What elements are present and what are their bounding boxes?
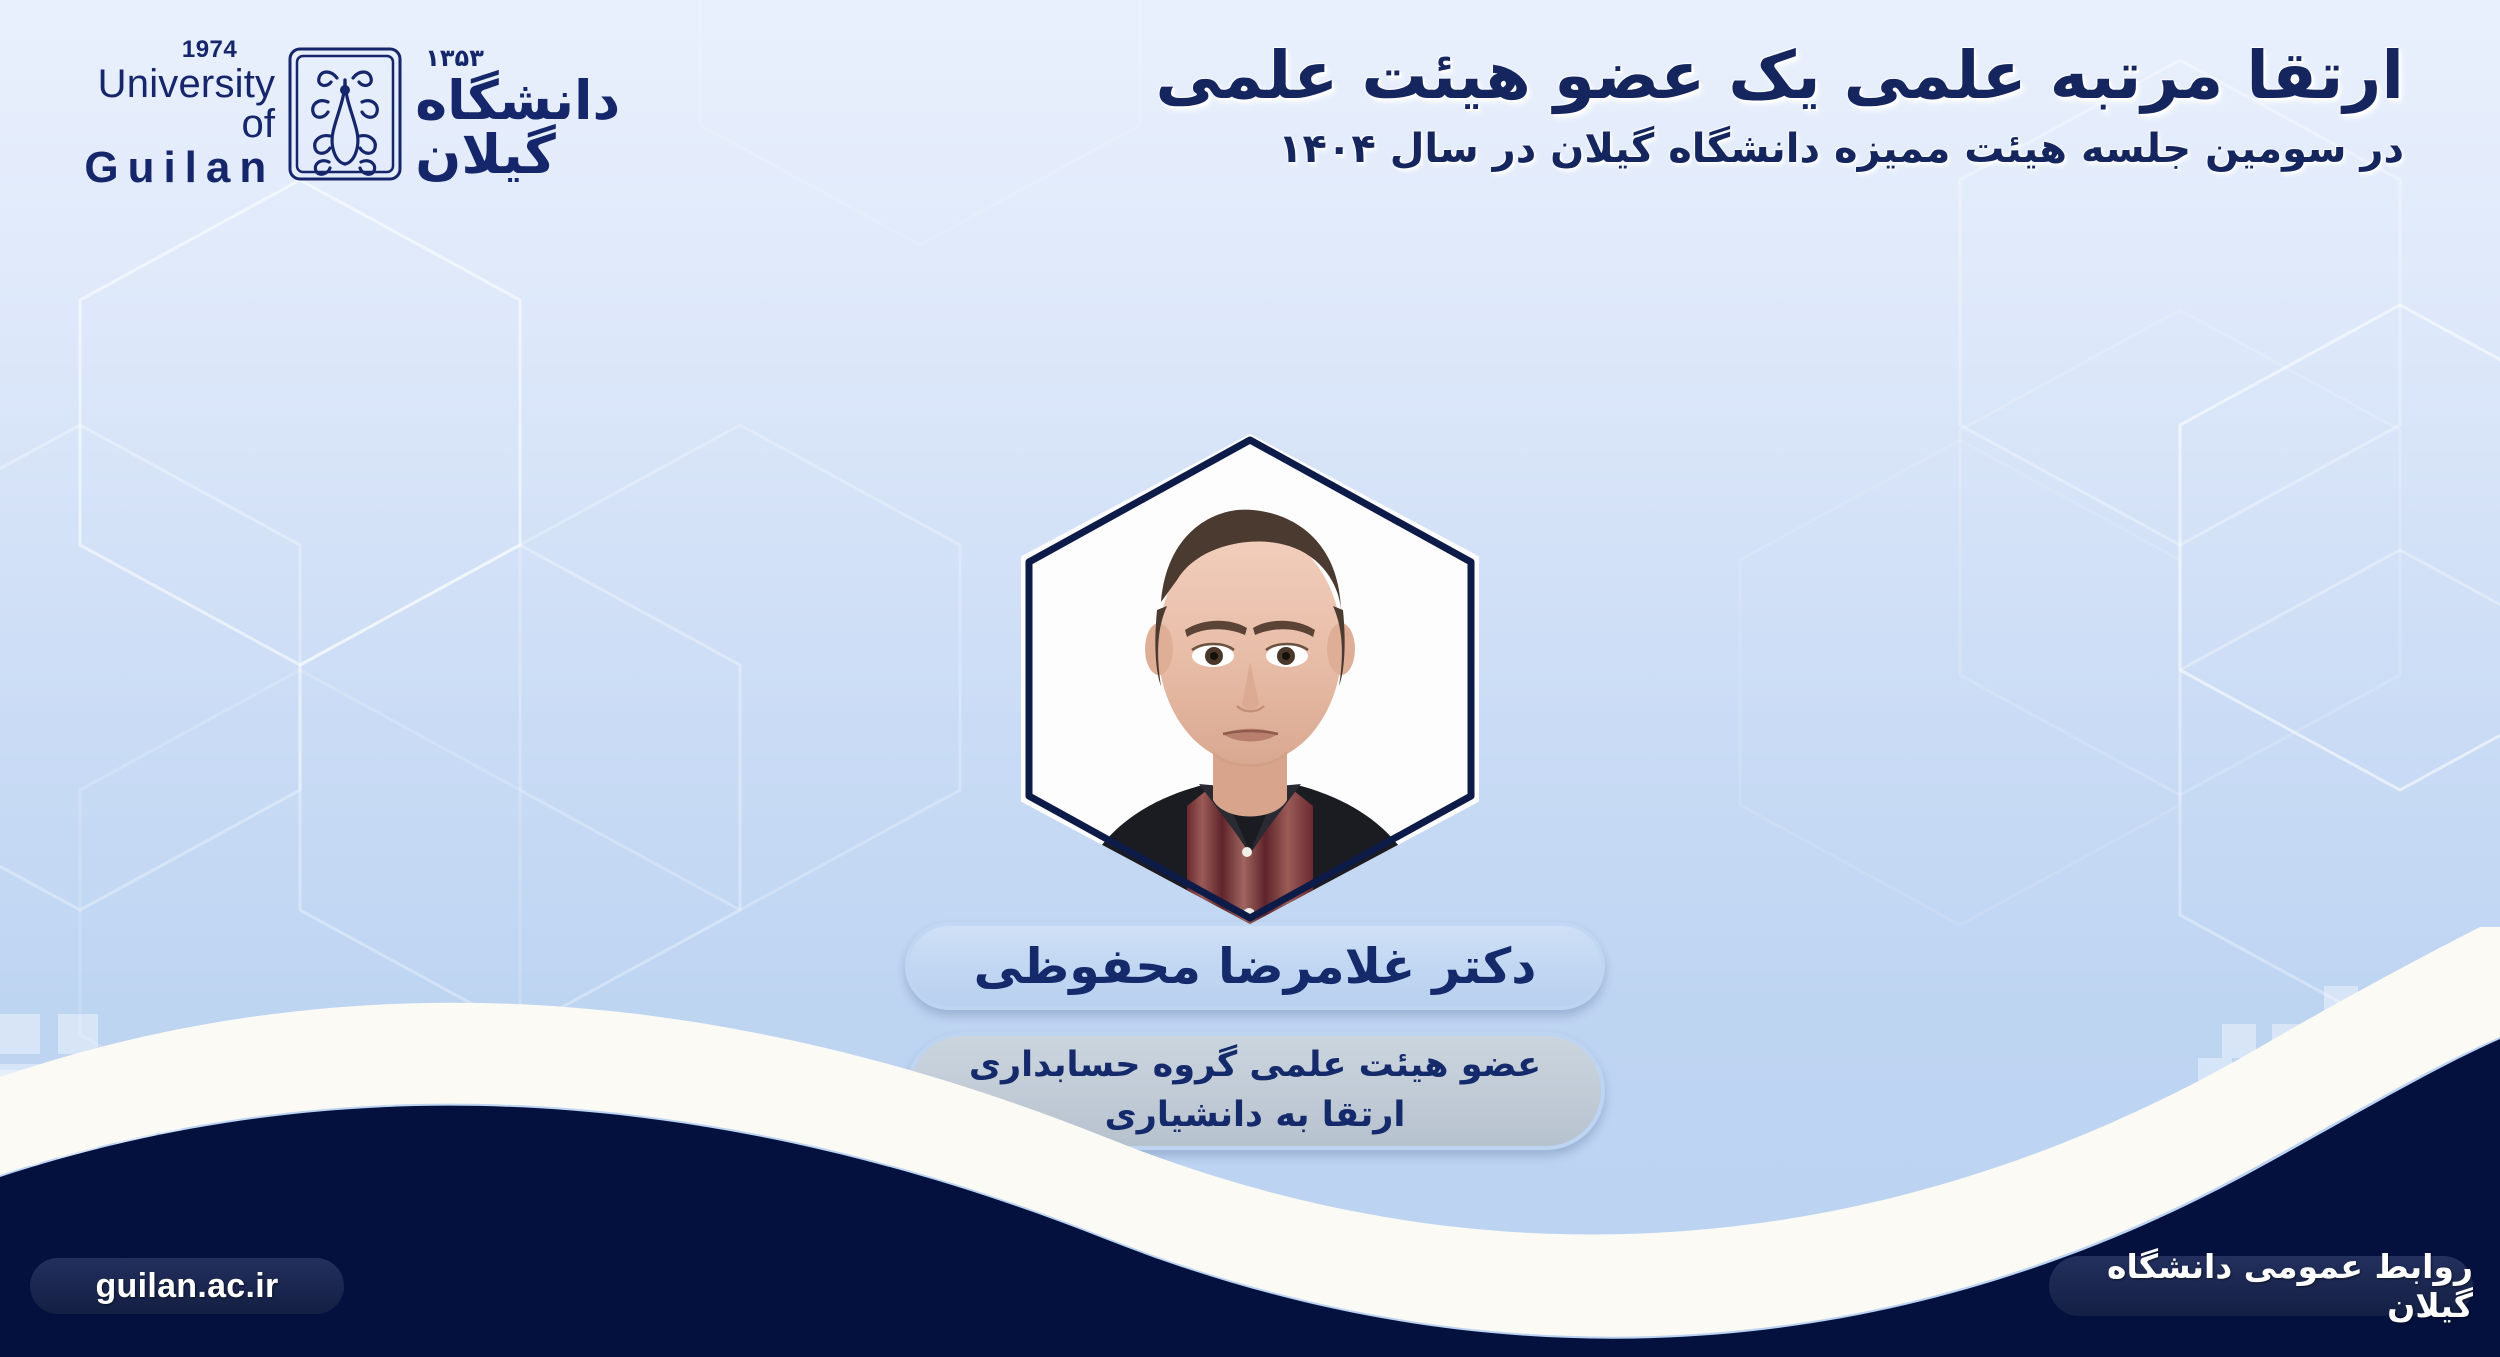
logo-persian-block: ۱۳۵۳ دانشگاه گیلان [411,46,738,182]
poster-title: ارتقا مرتبه علمی یک عضو هیئت علمی [1054,36,2404,117]
hexagon-frame-outline [1021,434,1479,924]
portrait-frame [1021,434,1479,924]
website-text: guilan.ac.ir [95,1267,278,1306]
logo-english-block: 1974 University of Guilan [78,38,279,190]
public-relations-badge: روابط عمومی دانشگاه گیلان [2046,1253,2476,1319]
public-relations-text: روابط عمومی دانشگاه گیلان [2049,1247,2473,1325]
poster-header: 1974 University of Guilan [0,0,2500,215]
logo-year-persian: ۱۳۵۳ [425,46,738,70]
logo-university-word: University of [78,64,275,144]
logo-year-english: 1974 [78,38,237,62]
logo-persian-name: دانشگاه گیلان [415,74,738,182]
title-block: ارتقا مرتبه علمی یک عضو هیئت علمی در سوم… [1054,36,2404,175]
university-logo: 1974 University of Guilan [78,34,738,194]
poster-subtitle: در سومین جلسه هیئت ممیزه دانشگاه گیلان د… [1054,123,2404,175]
website-badge[interactable]: guilan.ac.ir [27,1255,347,1317]
poster-canvas: 1974 University of Guilan [0,0,2500,1357]
guilan-emblem-icon [285,44,405,184]
logo-guilan-word: Guilan [78,146,275,190]
